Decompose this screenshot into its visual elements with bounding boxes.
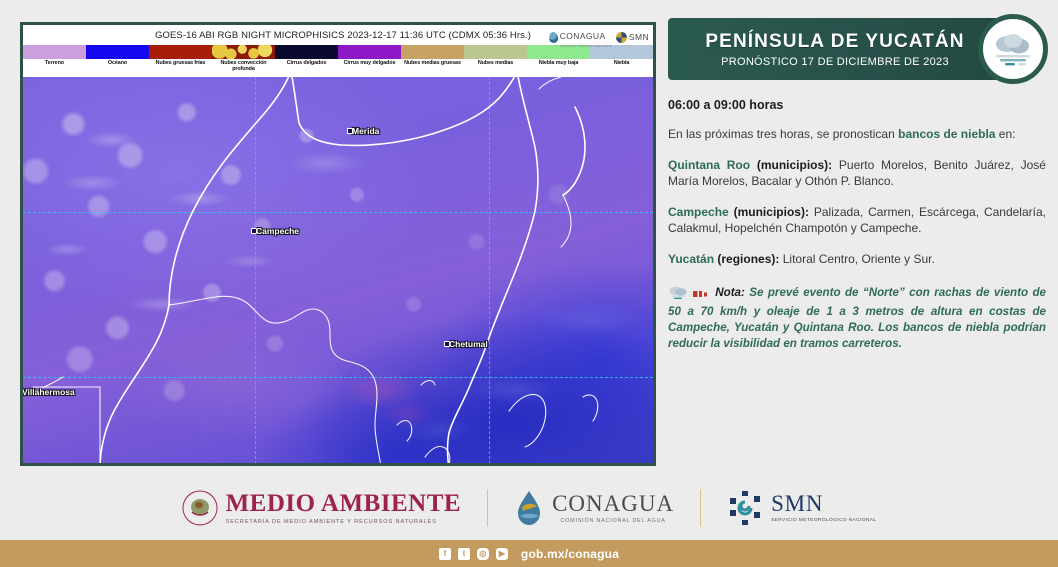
legend-label: Niebla muy baja bbox=[527, 59, 590, 77]
legend-swatch bbox=[338, 45, 401, 59]
legend-label: Niebla bbox=[590, 59, 653, 77]
small-fog-cloud-icon bbox=[668, 285, 690, 299]
forecast-intro: En las próximas tres horas, se pronostic… bbox=[668, 126, 1046, 143]
legend-swatch bbox=[86, 45, 149, 59]
legend-label: Terreno bbox=[23, 59, 86, 77]
conagua-eagle-water-icon bbox=[514, 489, 544, 527]
legend-swatch bbox=[212, 45, 275, 59]
conagua-sub: COMISIÓN NACIONAL DEL AGUA bbox=[552, 518, 674, 524]
legend-label: Cirrus muy delgados bbox=[338, 59, 401, 77]
city-label: Villahermosa bbox=[23, 387, 75, 397]
legend-swatch bbox=[464, 45, 527, 59]
legend-label: Nubes convección profunda bbox=[212, 59, 275, 77]
region-qualifier: (municipios): bbox=[734, 205, 809, 219]
region-state-name: Quintana Roo bbox=[668, 158, 750, 172]
satellite-imagery: MeridaCampecheChetumalVillahermosa bbox=[23, 77, 653, 466]
legend-label: Cirrus delgados bbox=[275, 59, 338, 77]
smn-mini-logo: SMN bbox=[616, 32, 649, 43]
footer-logo-strip: MEDIO AMBIENTE SECRETARÍA DE MEDIO AMBIE… bbox=[0, 478, 1058, 538]
region-entry-yucatan: Yucatán (regiones): Litoral Centro, Orie… bbox=[668, 251, 1046, 268]
twitter-icon[interactable]: t bbox=[458, 548, 470, 560]
satellite-title-bar: GOES-16 ABI RGB NIGHT MICROPHISICS 2023-… bbox=[23, 25, 653, 45]
city-label: Merida bbox=[352, 126, 379, 136]
legend-label: Nubes gruesas frías bbox=[149, 59, 212, 77]
smn-mini-label: SMN bbox=[629, 32, 649, 42]
satellite-header-logos: CONAGUA COMISIÓN NACIONAL DEL AGUA SMN bbox=[549, 26, 649, 48]
page-title: PENÍNSULA DE YUCATÁN bbox=[705, 31, 964, 53]
conagua-name: CONAGUA bbox=[552, 492, 674, 516]
coastline-overlay bbox=[23, 77, 653, 466]
smn-spiral-icon bbox=[727, 490, 763, 526]
wind-gust-dashes-icon bbox=[693, 290, 711, 299]
region-state-name: Yucatán bbox=[668, 252, 714, 266]
facebook-icon[interactable]: f bbox=[439, 548, 451, 560]
region-qualifier: (regiones): bbox=[717, 252, 779, 266]
conagua-mini-logo: CONAGUA COMISIÓN NACIONAL DEL AGUA bbox=[549, 26, 612, 48]
satellite-title: GOES-16 ABI RGB NIGHT MICROPHISICS 2023-… bbox=[155, 30, 531, 41]
smn-spiral-icon bbox=[616, 32, 627, 43]
legend-label: Océano bbox=[86, 59, 149, 77]
youtube-icon[interactable]: ▶ bbox=[496, 548, 508, 560]
note-label: Nota: bbox=[715, 286, 745, 299]
medio-ambiente-text: MEDIO AMBIENTE SECRETARÍA DE MEDIO AMBIE… bbox=[226, 491, 462, 525]
forecast-intro-highlight: bancos de niebla bbox=[898, 127, 995, 141]
fog-cloud-glyph bbox=[990, 28, 1036, 70]
city-label: Campeche bbox=[256, 226, 299, 236]
conagua-text: CONAGUA COMISIÓN NACIONAL DEL AGUA bbox=[552, 492, 674, 524]
footer-divider bbox=[487, 489, 488, 527]
medio-ambiente-name: MEDIO AMBIENTE bbox=[226, 491, 462, 517]
bottom-social-bar: f t ◎ ▶ gob.mx/conagua bbox=[0, 540, 1058, 567]
forecast-intro-suffix: en: bbox=[995, 127, 1015, 141]
legend-label: Nubes medias gruesas bbox=[401, 59, 464, 77]
region-qualifier: (municipios): bbox=[757, 158, 832, 172]
fog-cloud-icon bbox=[978, 14, 1048, 84]
smn-name: SMN bbox=[771, 492, 876, 516]
instagram-icon[interactable]: ◎ bbox=[477, 548, 489, 560]
conagua-mini-label: CONAGUA bbox=[560, 31, 606, 41]
smn-text: SMN SERVICIO METEOROLÓGICO NACIONAL bbox=[771, 492, 876, 524]
region-entry-quintana-roo: Quintana Roo (municipios): Puerto Morelo… bbox=[668, 157, 1046, 190]
city-label: Chetumal bbox=[449, 339, 488, 349]
region-places: Litoral Centro, Oriente y Sur. bbox=[783, 252, 935, 266]
smn-sub: SERVICIO METEOROLÓGICO NACIONAL bbox=[771, 518, 876, 524]
smn-logo: SMN SERVICIO METEOROLÓGICO NACIONAL bbox=[727, 490, 876, 526]
conagua-logo: CONAGUA COMISIÓN NACIONAL DEL AGUA bbox=[514, 489, 674, 527]
region-state-name: Campeche bbox=[668, 205, 729, 219]
mexico-coat-of-arms-icon bbox=[182, 490, 218, 526]
forecast-header: PENÍNSULA DE YUCATÁN PRONÓSTICO 17 DE DI… bbox=[668, 18, 1002, 80]
legend-swatch bbox=[275, 45, 338, 59]
satellite-image-panel: GOES-16 ABI RGB NIGHT MICROPHISICS 2023-… bbox=[20, 22, 656, 466]
forecast-intro-prefix: En las próximas tres horas, se pronostic… bbox=[668, 127, 898, 141]
legend-swatch bbox=[401, 45, 464, 59]
color-legend-labels: TerrenoOcéanoNubes gruesas fríasNubes co… bbox=[23, 59, 653, 77]
medio-ambiente-sub: SECRETARÍA DE MEDIO AMBIENTE Y RECURSOS … bbox=[226, 519, 462, 525]
legend-swatch bbox=[23, 45, 86, 59]
legend-swatch bbox=[149, 45, 212, 59]
forecast-note: Nota: Se prevé evento de “Norte” con rac… bbox=[668, 285, 1046, 352]
footer-divider bbox=[700, 489, 701, 527]
note-icon-group bbox=[668, 285, 711, 304]
conagua-mini-sublabel: COMISIÓN NACIONAL DEL AGUA bbox=[560, 44, 612, 48]
website-url[interactable]: gob.mx/conagua bbox=[521, 547, 619, 561]
legend-label: Nubes medias bbox=[464, 59, 527, 77]
forecast-subtitle: PRONÓSTICO 17 DE DICIEMBRE DE 2023 bbox=[721, 56, 949, 68]
water-drop-icon bbox=[548, 31, 558, 43]
region-entry-campeche: Campeche (municipios): Palizada, Carmen,… bbox=[668, 204, 1046, 237]
forecast-time-range: 06:00 a 09:00 horas bbox=[668, 98, 1046, 112]
forecast-panel: PENÍNSULA DE YUCATÁN PRONÓSTICO 17 DE DI… bbox=[668, 18, 1046, 468]
medio-ambiente-logo: MEDIO AMBIENTE SECRETARÍA DE MEDIO AMBIE… bbox=[182, 490, 462, 526]
